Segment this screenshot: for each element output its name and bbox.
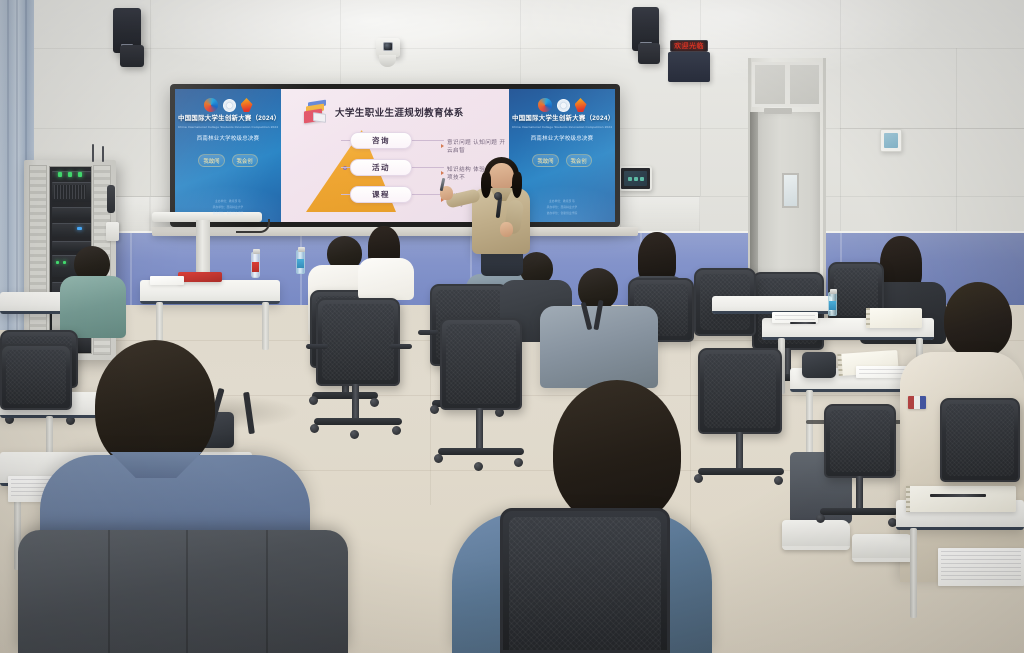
left-banner-panel: 中国国际大学生创新大赛（2024） China International Co… <box>175 89 281 222</box>
wall-thermostat-panel[interactable] <box>880 129 902 152</box>
right-banner-subtitle: 西南林业大学校级总决赛 <box>531 134 594 142</box>
left-banner-subtitle: 西南林业大学校级总决赛 <box>197 134 260 142</box>
banner-footer-line: 协办单位：创新创业学院 <box>547 211 578 215</box>
banner-footer-line: 承办单位：西南林业大学 <box>213 205 244 209</box>
presenter-head <box>489 163 514 191</box>
led-display-sign: 欢迎光临 <box>670 40 708 52</box>
ceiling-light-glow-2 <box>520 0 940 80</box>
wave-logo-icon <box>538 98 552 112</box>
wall-speaker-right-sub <box>638 43 660 64</box>
audience-member-head <box>944 282 1012 358</box>
seal-logo-icon <box>223 99 236 112</box>
presenter-hair-side <box>512 172 522 198</box>
notebook <box>906 486 1016 512</box>
bullet-triangle-icon <box>441 171 444 175</box>
notebook <box>866 308 922 328</box>
wall-seam <box>840 128 1024 129</box>
rack-vent-door-left <box>29 165 47 355</box>
water-bottle <box>251 252 260 278</box>
paper-stack <box>938 548 1024 586</box>
wall-seam <box>700 0 701 196</box>
tier-description-1: 意识问题 认知问题 开云启智 <box>441 138 509 154</box>
left-banner-title: 中国国际大学生创新大赛（2024） <box>175 115 281 122</box>
shoe <box>782 520 850 550</box>
banner-logos <box>538 98 587 112</box>
banner-footer-line: 承办单位：西南林业大学 <box>547 205 578 209</box>
wall-seam <box>956 48 957 233</box>
right-banner-pills: 我敢闯 我会创 <box>532 154 591 167</box>
banner-pill: 我敢闯 <box>532 154 558 167</box>
slide-header: 大学生职业生涯规划教育体系 <box>303 100 464 124</box>
left-banner-subtitle-en: China International College Students Inn… <box>178 125 278 129</box>
lectern-cable <box>236 219 270 233</box>
foreground-chair-2[interactable] <box>500 508 670 653</box>
led-sign-text: 欢迎光临 <box>674 41 704 51</box>
left-banner-pills: 我敢闯 我会创 <box>198 154 257 167</box>
pyramid-tier-2: 活动 <box>350 159 412 176</box>
tier-label: 课程 <box>372 189 390 200</box>
tier-label: 咨询 <box>372 135 390 146</box>
books-icon <box>303 100 329 124</box>
microphone-head-icon <box>494 192 502 200</box>
remote-control[interactable] <box>106 222 119 241</box>
wall-seam <box>840 0 841 233</box>
wall-speaker-left-sub <box>120 45 144 67</box>
handheld-microphone[interactable] <box>107 185 115 213</box>
foreground-person-head-2 <box>553 380 681 525</box>
tier-label: 活动 <box>372 162 390 173</box>
seal-logo-icon <box>557 99 570 112</box>
banner-pill: 我会创 <box>566 154 592 167</box>
door-vision-window <box>782 173 799 208</box>
classroom-scene: 欢迎光临 中国国际大学生创新大赛（2024） China Internatio <box>0 0 1024 653</box>
wall-seam <box>150 0 151 196</box>
banner-pill: 我敢闯 <box>198 154 224 167</box>
pyramid-tier-3: 课程 <box>350 186 412 203</box>
water-bottle <box>828 292 837 316</box>
right-banner-title: 中国国际大学生创新大赛（2024） <box>509 115 615 122</box>
banner-footer-line: 主办单位：教育部 等 <box>549 199 575 203</box>
backpack <box>802 352 836 378</box>
pen <box>930 494 986 497</box>
banner-footer-line: 协办单位：创新创业学院 <box>213 211 244 215</box>
foreground-chair[interactable] <box>18 530 348 653</box>
left-banner-footer: 主办单位：教育部 等 承办单位：西南林业大学 协办单位：创新创业学院 <box>175 199 281 215</box>
paper-stack <box>150 276 184 285</box>
torch-logo-icon <box>241 98 253 112</box>
transom-mullion <box>785 62 790 107</box>
banner-footer-line: 主办单位：教育部 等 <box>215 199 241 203</box>
led-sign-housing <box>668 52 710 82</box>
pen <box>790 322 816 324</box>
red-folder <box>178 272 222 282</box>
camera-lens-icon <box>383 42 393 51</box>
torch-logo-icon <box>575 98 587 112</box>
banner-logos <box>204 98 253 112</box>
slide-title: 大学生职业生涯规划教育体系 <box>335 105 464 119</box>
presenter-hair-side <box>481 172 491 198</box>
bullet-triangle-icon <box>441 144 444 148</box>
right-banner-subtitle-en: China International College Students Inn… <box>512 125 612 129</box>
wall-seam <box>0 48 1024 49</box>
banner-pill: 我会创 <box>232 154 258 167</box>
tier-description-text: 意识问题 认知问题 开云启智 <box>447 138 509 154</box>
av-touch-panel[interactable] <box>619 166 652 191</box>
pyramid-tier-1: 咨询 <box>350 132 412 149</box>
sleeve-flag-patch <box>908 396 926 409</box>
presenter-right-hand <box>500 222 513 237</box>
shoe <box>852 534 914 562</box>
water-bottle <box>296 250 305 274</box>
projection-screen: 中国国际大学生创新大赛（2024） China International Co… <box>170 84 620 227</box>
wave-logo-icon <box>204 98 218 112</box>
